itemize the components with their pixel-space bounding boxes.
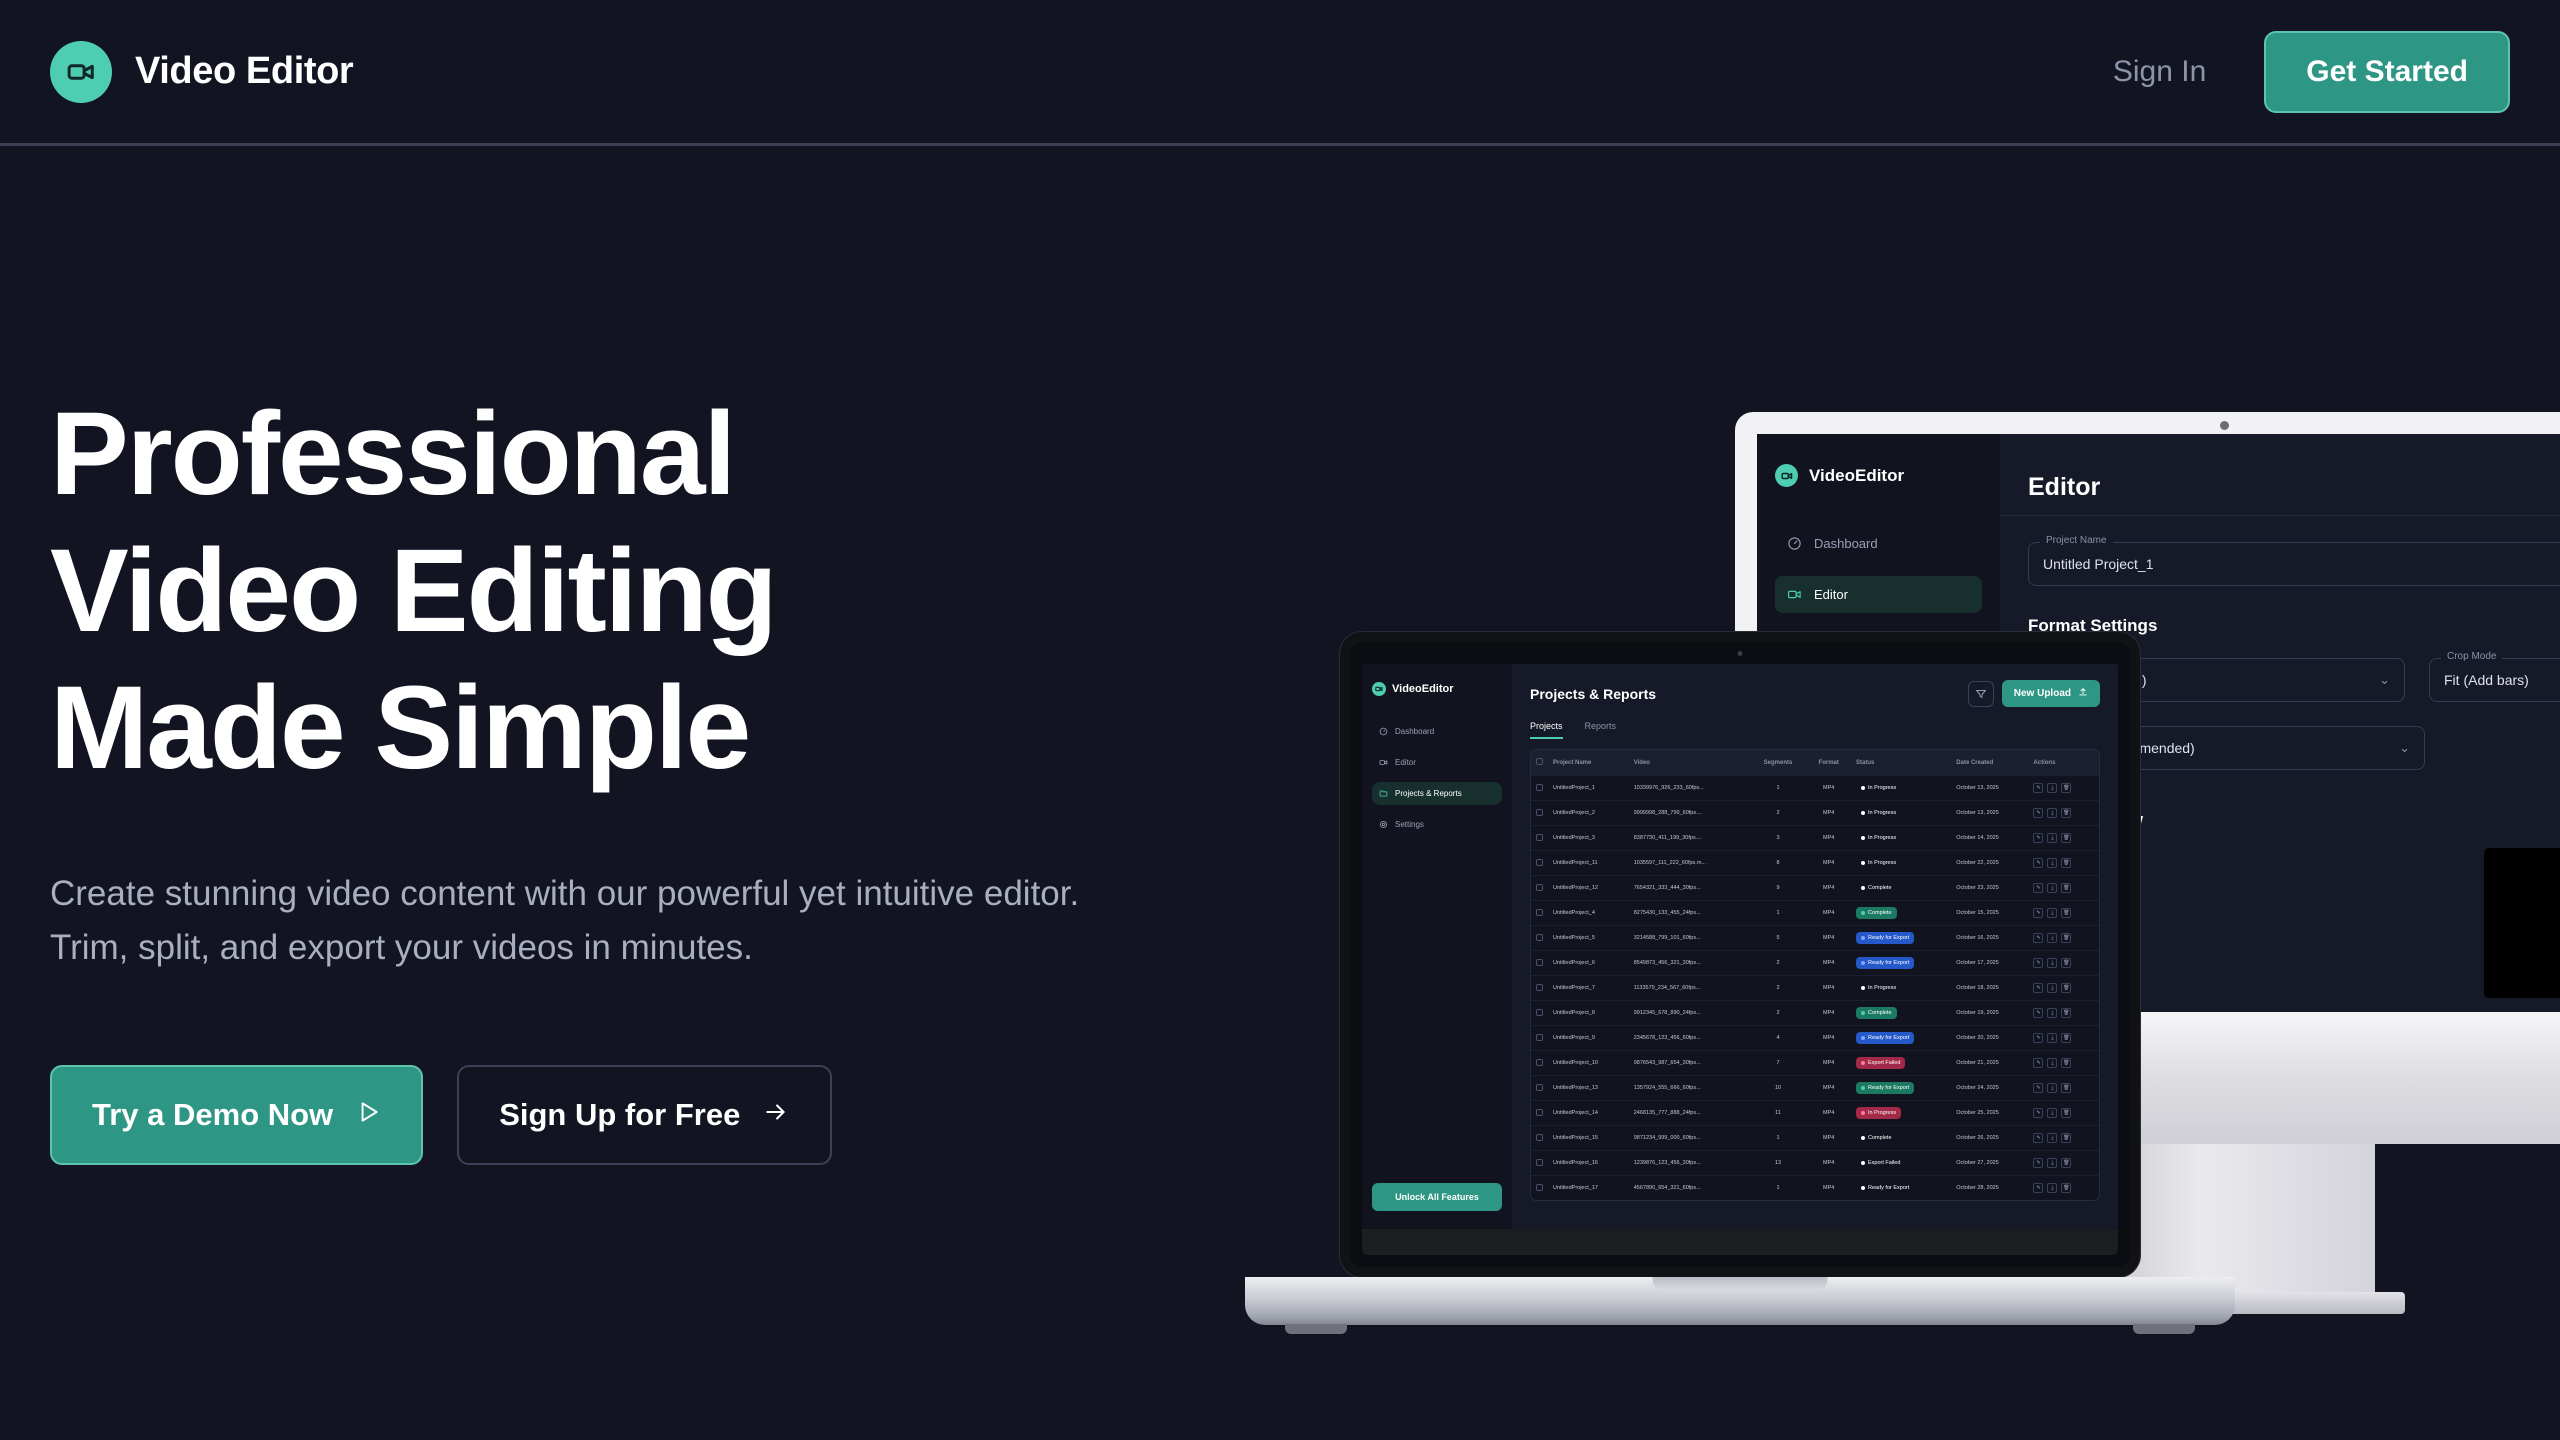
cell-video: 2345678_123_456_60fps... <box>1629 1026 1750 1051</box>
sidebar-item-projects-reports[interactable]: Projects & Reports <box>1372 782 1502 805</box>
laptop-tabs: Projects Reports <box>1530 721 2100 739</box>
delete-icon[interactable]: 🗑 <box>2061 1183 2071 1193</box>
col-video[interactable]: Video <box>1629 750 1750 776</box>
checkbox-icon[interactable] <box>1536 1059 1543 1066</box>
download-icon[interactable]: ⤓ <box>2047 908 2057 918</box>
status-dot-icon <box>1861 1036 1865 1040</box>
status-label: Ready for Export <box>1868 1085 1909 1091</box>
cell-actions: ✎⤓🗑 <box>2028 976 2099 1001</box>
edit-icon[interactable]: ✎ <box>2033 1033 2043 1043</box>
cell-format: MP4 <box>1806 1101 1851 1126</box>
cell-status: Export Failed <box>1851 1151 1951 1176</box>
table-row[interactable]: UntitledProject_174567890_654_321_60fps.… <box>1531 1176 2099 1201</box>
status-dot-icon <box>1861 1111 1865 1115</box>
edit-icon[interactable]: ✎ <box>2033 1158 2043 1168</box>
cell-project-name: UntitledProject_3 <box>1548 826 1629 851</box>
video-camera-icon <box>50 41 112 103</box>
gear-icon <box>1379 820 1388 829</box>
table-row[interactable]: UntitledProject_142468135_777_888_24fps.… <box>1531 1101 2099 1126</box>
laptop-page-header: Projects & Reports New Upload <box>1530 680 2100 707</box>
table-row[interactable]: UntitledProject_127654321_333_444_30fps.… <box>1531 876 2099 901</box>
row-checkbox-cell[interactable] <box>1531 901 1548 926</box>
table-row[interactable]: UntitledProject_159871234_999_000_60fps.… <box>1531 1126 2099 1151</box>
row-checkbox-cell[interactable] <box>1531 826 1548 851</box>
col-segments[interactable]: Segments <box>1750 750 1807 776</box>
col-format[interactable]: Format <box>1806 750 1851 776</box>
try-demo-label: Try a Demo Now <box>92 1097 333 1133</box>
laptop-foot-left <box>1285 1324 1347 1334</box>
checkbox-icon[interactable] <box>1536 909 1543 916</box>
status-label: Export Failed <box>1868 1160 1900 1166</box>
status-label: Complete <box>1868 910 1892 916</box>
delete-icon[interactable]: 🗑 <box>2061 1008 2071 1018</box>
download-icon[interactable]: ⤓ <box>2047 783 2057 793</box>
table-row[interactable]: UntitledProject_109876543_987_654_30fps.… <box>1531 1051 2099 1076</box>
cell-format: MP4 <box>1806 901 1851 926</box>
sign-up-free-button[interactable]: Sign Up for Free <box>457 1065 832 1165</box>
sidebar-item-dashboard[interactable]: Dashboard <box>1372 720 1502 743</box>
status-badge: In Progress <box>1856 1107 1901 1119</box>
cell-video: 9871234_999_000_60fps... <box>1629 1126 1750 1151</box>
cell-status: In Progress <box>1851 851 1951 876</box>
checkbox-icon[interactable] <box>1536 784 1543 791</box>
cell-segments: 11 <box>1750 1101 1807 1126</box>
download-icon[interactable]: ⤓ <box>2047 883 2057 893</box>
checkbox-icon[interactable] <box>1536 859 1543 866</box>
cell-date-created: October 22, 2025 <box>1951 851 2028 876</box>
video-camera-icon <box>1787 587 1802 602</box>
checkbox-icon[interactable] <box>1536 1084 1543 1091</box>
laptop-header-actions: New Upload <box>1968 680 2100 707</box>
video-camera-icon <box>1775 464 1798 487</box>
select-all-header[interactable] <box>1531 750 1548 776</box>
filter-icon[interactable] <box>1968 681 1994 707</box>
cell-project-name: UntitledProject_9 <box>1548 1026 1629 1051</box>
cell-format: MP4 <box>1806 1076 1851 1101</box>
projects-table-element: Project Name Video Segments Format Statu… <box>1531 750 2099 1200</box>
cell-project-name: UntitledProject_12 <box>1548 876 1629 901</box>
row-checkbox-cell[interactable] <box>1531 926 1548 951</box>
download-icon[interactable]: ⤓ <box>2047 983 2057 993</box>
cell-video: 1133579_234_567_60fps... <box>1629 976 1750 1001</box>
cell-video: 9876543_987_654_30fps... <box>1629 1051 1750 1076</box>
status-dot-icon <box>1861 886 1865 890</box>
unlock-all-features-button[interactable]: Unlock All Features <box>1372 1183 1502 1211</box>
row-checkbox-cell[interactable] <box>1531 801 1548 826</box>
cell-format: MP4 <box>1806 1151 1851 1176</box>
hero-title-line-2: Video Editing <box>50 523 1250 660</box>
table-row[interactable]: UntitledProject_111035597_111_222_60fps.… <box>1531 851 2099 876</box>
edit-icon[interactable]: ✎ <box>2033 1133 2043 1143</box>
laptop-base <box>1245 1277 2235 1325</box>
download-icon[interactable]: ⤓ <box>2047 808 2057 818</box>
download-icon[interactable]: ⤓ <box>2047 858 2057 868</box>
status-badge: In Progress <box>1856 857 1901 869</box>
cell-segments: 1 <box>1750 901 1807 926</box>
row-checkbox-cell[interactable] <box>1531 776 1548 801</box>
cell-status: Complete <box>1851 876 1951 901</box>
cell-status: In Progress <box>1851 826 1951 851</box>
status-label: Ready for Export <box>1868 1185 1909 1191</box>
row-checkbox-cell[interactable] <box>1531 1126 1548 1151</box>
edit-icon[interactable]: ✎ <box>2033 1183 2043 1193</box>
delete-icon[interactable]: 🗑 <box>2061 783 2071 793</box>
cell-status: In Progress <box>1851 801 1951 826</box>
projects-table-body: UntitledProject_110339976_926_233_60fps.… <box>1531 776 2099 1201</box>
status-badge: Ready for Export <box>1856 932 1914 944</box>
cell-video: 8387730_411_199_30fps.... <box>1629 826 1750 851</box>
edit-icon[interactable]: ✎ <box>2033 1083 2043 1093</box>
brand[interactable]: Video Editor <box>50 41 353 103</box>
download-icon[interactable]: ⤓ <box>2047 1183 2057 1193</box>
projects-table: Project Name Video Segments Format Statu… <box>1530 749 2100 1201</box>
edit-icon[interactable]: ✎ <box>2033 908 2043 918</box>
edit-icon[interactable]: ✎ <box>2033 783 2043 793</box>
checkbox-icon[interactable] <box>1536 1034 1543 1041</box>
row-checkbox-cell[interactable] <box>1531 851 1548 876</box>
cell-status: In Progress <box>1851 1101 1951 1126</box>
cell-video: 1239876_123_456_30fps... <box>1629 1151 1750 1176</box>
cell-date-created: October 23, 2025 <box>1951 876 2028 901</box>
cell-video: 10339976_926_233_60fps... <box>1629 776 1750 801</box>
new-upload-button[interactable]: New Upload <box>2002 680 2100 707</box>
cell-segments: 3 <box>1750 826 1807 851</box>
sidebar-item-label: Dashboard <box>1395 727 1434 736</box>
sidebar-item-label: Settings <box>1395 820 1424 829</box>
chevron-down-icon: ⌄ <box>2399 740 2410 756</box>
cell-actions: ✎⤓🗑 <box>2028 776 2099 801</box>
status-badge: In Progress <box>1856 832 1901 844</box>
get-started-button[interactable]: Get Started <box>2264 31 2510 113</box>
col-status[interactable]: Status <box>1851 750 1951 776</box>
cell-format: MP4 <box>1806 801 1851 826</box>
delete-icon[interactable]: 🗑 <box>2061 1108 2071 1118</box>
edit-icon[interactable]: ✎ <box>2033 1058 2043 1068</box>
device-mockup-group: VideoEditor Dashboard Editor <box>1340 380 2560 1280</box>
video-camera-icon <box>1372 682 1386 696</box>
cell-project-name: UntitledProject_2 <box>1548 801 1629 826</box>
edit-icon[interactable]: ✎ <box>2033 1008 2043 1018</box>
cell-status: Ready for Export <box>1851 1076 1951 1101</box>
table-row[interactable]: UntitledProject_53214588_799_101_60fps..… <box>1531 926 2099 951</box>
chevron-down-icon: ⌄ <box>2379 672 2390 688</box>
cell-actions: ✎⤓🗑 <box>2028 801 2099 826</box>
crop-mode-label: Crop Mode <box>2441 651 2502 662</box>
row-checkbox-cell[interactable] <box>1531 951 1548 976</box>
cell-date-created: October 25, 2025 <box>1951 1101 2028 1126</box>
status-dot-icon <box>1861 1136 1865 1140</box>
edit-icon[interactable]: ✎ <box>2033 833 2043 843</box>
status-badge: Complete <box>1856 1132 1897 1144</box>
status-dot-icon <box>1861 986 1865 990</box>
cell-date-created: October 15, 2025 <box>1951 901 2028 926</box>
status-dot-icon <box>1861 1186 1865 1190</box>
editor-page-title: Editor <box>2028 473 2100 502</box>
gauge-icon <box>1787 536 1802 551</box>
hero-title-line-3: Made Simple <box>50 660 1250 797</box>
status-label: In Progress <box>1868 785 1896 791</box>
delete-icon[interactable]: 🗑 <box>2061 1058 2071 1068</box>
cell-video: 1035597_111_222_60fps.m... <box>1629 851 1750 876</box>
delete-icon[interactable]: 🗑 <box>2061 908 2071 918</box>
col-date-created[interactable]: Date Created <box>1951 750 2028 776</box>
status-badge: Complete <box>1856 882 1897 894</box>
checkbox-icon[interactable] <box>1536 884 1543 891</box>
delete-icon[interactable]: 🗑 <box>2061 1033 2071 1043</box>
hero-subtitle: Create stunning video content with our p… <box>50 867 1120 976</box>
checkbox-icon[interactable] <box>1536 934 1543 941</box>
sidebar-item-settings[interactable]: Settings <box>1372 813 1502 836</box>
status-dot-icon <box>1861 961 1865 965</box>
status-badge: Ready for Export <box>1856 1182 1914 1194</box>
cell-actions: ✎⤓🗑 <box>2028 1076 2099 1101</box>
status-badge: Ready for Export <box>1856 1082 1914 1094</box>
row-checkbox-cell[interactable] <box>1531 1176 1548 1201</box>
monitor-app-brand: VideoEditor <box>1775 464 1982 487</box>
project-name-label: Project Name <box>2040 535 2113 546</box>
cell-date-created: October 21, 2025 <box>1951 1051 2028 1076</box>
status-label: In Progress <box>1868 810 1896 816</box>
table-row[interactable]: UntitledProject_131357924_555_666_60fps.… <box>1531 1076 2099 1101</box>
cell-status: In Progress <box>1851 776 1951 801</box>
site-header: Video Editor Sign In Get Started <box>0 0 2560 146</box>
delete-icon[interactable]: 🗑 <box>2061 1133 2071 1143</box>
row-checkbox-cell[interactable] <box>1531 1051 1548 1076</box>
checkbox-icon[interactable] <box>1536 1109 1543 1116</box>
edit-icon[interactable]: ✎ <box>2033 933 2043 943</box>
row-checkbox-cell[interactable] <box>1531 1001 1548 1026</box>
checkbox-icon[interactable] <box>1536 1184 1543 1191</box>
table-row[interactable]: UntitledProject_71133579_234_567_60fps..… <box>1531 976 2099 1001</box>
laptop-chin <box>1362 1229 2118 1255</box>
arrow-right-icon <box>762 1097 790 1133</box>
cell-actions: ✎⤓🗑 <box>2028 926 2099 951</box>
download-icon[interactable]: ⤓ <box>2047 933 2057 943</box>
crop-mode-value: Fit (Add bars) <box>2444 672 2529 688</box>
cell-project-name: UntitledProject_16 <box>1548 1151 1629 1176</box>
cell-project-name: UntitledProject_5 <box>1548 926 1629 951</box>
cell-actions: ✎⤓🗑 <box>2028 1051 2099 1076</box>
row-checkbox-cell[interactable] <box>1531 1151 1548 1176</box>
cell-format: MP4 <box>1806 926 1851 951</box>
cell-date-created: October 16, 2025 <box>1951 926 2028 951</box>
sidebar-item-label: Editor <box>1814 587 1848 602</box>
cell-format: MP4 <box>1806 951 1851 976</box>
sidebar-item-label: Dashboard <box>1814 536 1878 551</box>
delete-icon[interactable]: 🗑 <box>2061 833 2071 843</box>
cell-segments: 5 <box>1750 926 1807 951</box>
status-badge: In Progress <box>1856 982 1901 994</box>
checkbox-icon[interactable] <box>1536 758 1543 765</box>
cell-actions: ✎⤓🗑 <box>2028 1026 2099 1051</box>
cell-status: Ready for Export <box>1851 951 1951 976</box>
table-row[interactable]: UntitledProject_89912345_678_890_24fps..… <box>1531 1001 2099 1026</box>
table-row[interactable]: UntitledProject_110339976_926_233_60fps.… <box>1531 776 2099 801</box>
status-badge: In Progress <box>1856 807 1901 819</box>
status-badge: In Progress <box>1856 782 1901 794</box>
status-label: In Progress <box>1868 835 1896 841</box>
row-checkbox-cell[interactable] <box>1531 1101 1548 1126</box>
folder-icon <box>1379 789 1388 798</box>
table-row[interactable]: UntitledProject_38387730_411_199_30fps..… <box>1531 826 2099 851</box>
status-badge: Export Failed <box>1856 1157 1905 1169</box>
download-icon[interactable]: ⤓ <box>2047 1108 2057 1118</box>
cell-video: 7654321_333_444_30fps... <box>1629 876 1750 901</box>
download-icon[interactable]: ⤓ <box>2047 958 2057 968</box>
status-label: In Progress <box>1868 985 1896 991</box>
cell-status: Ready for Export <box>1851 1176 1951 1201</box>
download-icon[interactable]: ⤓ <box>2047 1158 2057 1168</box>
cell-project-name: UntitledProject_10 <box>1548 1051 1629 1076</box>
project-name-field[interactable]: Project Name Untitled Project_1 <box>2028 542 2560 586</box>
cell-segments: 2 <box>1750 801 1807 826</box>
download-icon[interactable]: ⤓ <box>2047 1033 2057 1043</box>
cell-actions: ✎⤓🗑 <box>2028 1151 2099 1176</box>
table-row[interactable]: UntitledProject_68549873_456_321_30fps..… <box>1531 951 2099 976</box>
checkbox-icon[interactable] <box>1536 1009 1543 1016</box>
hero-title-line-1: Professional <box>50 386 1250 523</box>
cell-date-created: October 24, 2025 <box>1951 1076 2028 1101</box>
download-icon[interactable]: ⤓ <box>2047 1008 2057 1018</box>
edit-icon[interactable]: ✎ <box>2033 858 2043 868</box>
status-badge: Ready for Export <box>1856 957 1914 969</box>
cell-video: 1357924_555_666_60fps... <box>1629 1076 1750 1101</box>
cell-project-name: UntitledProject_8 <box>1548 1001 1629 1026</box>
status-dot-icon <box>1861 836 1865 840</box>
cell-actions: ✎⤓🗑 <box>2028 1126 2099 1151</box>
laptop-app-brand: VideoEditor <box>1372 682 1502 696</box>
project-name-value: Untitled Project_1 <box>2043 556 2154 572</box>
download-icon[interactable]: ⤓ <box>2047 1083 2057 1093</box>
status-label: In Progress <box>1868 860 1896 866</box>
projects-table-head: Project Name Video Segments Format Statu… <box>1531 750 2099 776</box>
status-dot-icon <box>1861 1061 1865 1065</box>
cell-project-name: UntitledProject_4 <box>1548 901 1629 926</box>
cell-segments: 2 <box>1750 951 1807 976</box>
cell-actions: ✎⤓🗑 <box>2028 951 2099 976</box>
sidebar-item-editor[interactable]: Editor <box>1775 576 1982 613</box>
cell-project-name: UntitledProject_6 <box>1548 951 1629 976</box>
delete-icon[interactable]: 🗑 <box>2061 958 2071 968</box>
cell-segments: 1 <box>1750 1176 1807 1201</box>
cell-format: MP4 <box>1806 1176 1851 1201</box>
try-demo-button[interactable]: Try a Demo Now <box>50 1065 423 1165</box>
sidebar-item-label: Projects & Reports <box>1395 789 1462 798</box>
cell-project-name: UntitledProject_7 <box>1548 976 1629 1001</box>
delete-icon[interactable]: 🗑 <box>2061 858 2071 868</box>
checkbox-icon[interactable] <box>1536 984 1543 991</box>
cell-format: MP4 <box>1806 1026 1851 1051</box>
download-icon[interactable]: ⤓ <box>2047 1133 2057 1143</box>
cell-project-name: UntitledProject_15 <box>1548 1126 1629 1151</box>
cell-date-created: October 14, 2025 <box>1951 826 2028 851</box>
row-checkbox-cell[interactable] <box>1531 976 1548 1001</box>
cell-segments: 8 <box>1750 851 1807 876</box>
monitor-topbar: Editor Save Exp <box>2000 434 2560 516</box>
cell-date-created: October 20, 2025 <box>1951 1026 2028 1051</box>
status-label: Complete <box>1868 1010 1892 1016</box>
cell-project-name: UntitledProject_13 <box>1548 1076 1629 1101</box>
cell-format: MP4 <box>1806 1001 1851 1026</box>
status-dot-icon <box>1861 1161 1865 1165</box>
table-header-row: Project Name Video Segments Format Statu… <box>1531 750 2099 776</box>
video-camera-icon <box>1379 758 1388 767</box>
cell-project-name: UntitledProject_1 <box>1548 776 1629 801</box>
cell-segments: 9 <box>1750 876 1807 901</box>
table-row[interactable]: UntitledProject_48275430_133_455_24fps..… <box>1531 901 2099 926</box>
delete-icon[interactable]: 🗑 <box>2061 883 2071 893</box>
sign-in-link[interactable]: Sign In <box>2113 55 2206 89</box>
cell-actions: ✎⤓🗑 <box>2028 1176 2099 1201</box>
checkbox-icon[interactable] <box>1536 834 1543 841</box>
delete-icon[interactable]: 🗑 <box>2061 1158 2071 1168</box>
checkbox-icon[interactable] <box>1536 1134 1543 1141</box>
tab-reports[interactable]: Reports <box>1585 721 1617 739</box>
cell-video: 9912345_678_890_24fps... <box>1629 1001 1750 1026</box>
edit-icon[interactable]: ✎ <box>2033 1108 2043 1118</box>
cell-segments: 7 <box>1750 1051 1807 1076</box>
tab-projects[interactable]: Projects <box>1530 721 1563 739</box>
download-icon[interactable]: ⤓ <box>2047 833 2057 843</box>
checkbox-icon[interactable] <box>1536 809 1543 816</box>
cell-format: MP4 <box>1806 826 1851 851</box>
status-dot-icon <box>1861 786 1865 790</box>
status-label: Ready for Export <box>1868 1035 1909 1041</box>
crop-mode-select[interactable]: Crop Mode Fit (Add bars) ⌄ <box>2429 658 2560 702</box>
laptop-screen: VideoEditor Dashboard Editor <box>1362 664 2118 1229</box>
brand-name: Video Editor <box>135 50 353 93</box>
status-badge: Complete <box>1856 1007 1897 1019</box>
edit-icon[interactable]: ✎ <box>2033 883 2043 893</box>
checkbox-icon[interactable] <box>1536 959 1543 966</box>
download-icon[interactable]: ⤓ <box>2047 1058 2057 1068</box>
status-label: In Progress <box>1868 1110 1896 1116</box>
edit-icon[interactable]: ✎ <box>2033 958 2043 968</box>
status-label: Ready for Export <box>1868 960 1909 966</box>
upload-icon <box>2078 687 2088 700</box>
delete-icon[interactable]: 🗑 <box>2061 933 2071 943</box>
table-row[interactable]: UntitledProject_161239876_123_456_30fps.… <box>1531 1151 2099 1176</box>
status-badge: Complete <box>1856 907 1897 919</box>
delete-icon[interactable]: 🗑 <box>2061 808 2071 818</box>
delete-icon[interactable]: 🗑 <box>2061 1083 2071 1093</box>
cell-segments: 1 <box>1750 776 1807 801</box>
col-project-name[interactable]: Project Name <box>1548 750 1629 776</box>
row-checkbox-cell[interactable] <box>1531 1026 1548 1051</box>
edit-icon[interactable]: ✎ <box>2033 808 2043 818</box>
status-dot-icon <box>1861 861 1865 865</box>
table-row[interactable]: UntitledProject_29999998_288_799_60fps..… <box>1531 801 2099 826</box>
row-checkbox-cell[interactable] <box>1531 1076 1548 1101</box>
cell-status: In Progress <box>1851 976 1951 1001</box>
checkbox-icon[interactable] <box>1536 1159 1543 1166</box>
cell-date-created: October 19, 2025 <box>1951 1001 2028 1026</box>
status-dot-icon <box>1861 911 1865 915</box>
col-actions: Actions <box>2028 750 2099 776</box>
sidebar-item-label: Editor <box>1395 758 1416 767</box>
delete-icon[interactable]: 🗑 <box>2061 983 2071 993</box>
projects-page-title: Projects & Reports <box>1530 686 1656 702</box>
cell-format: MP4 <box>1806 976 1851 1001</box>
laptop-app-brand-name: VideoEditor <box>1392 683 1454 695</box>
table-row[interactable]: UntitledProject_92345678_123_456_60fps..… <box>1531 1026 2099 1051</box>
row-checkbox-cell[interactable] <box>1531 876 1548 901</box>
monitor-app-brand-name: VideoEditor <box>1809 466 1904 486</box>
sidebar-item-editor[interactable]: Editor <box>1372 751 1502 774</box>
edit-icon[interactable]: ✎ <box>2033 983 2043 993</box>
sidebar-item-dashboard[interactable]: Dashboard <box>1775 525 1982 562</box>
status-badge: Ready for Export <box>1856 1032 1914 1044</box>
